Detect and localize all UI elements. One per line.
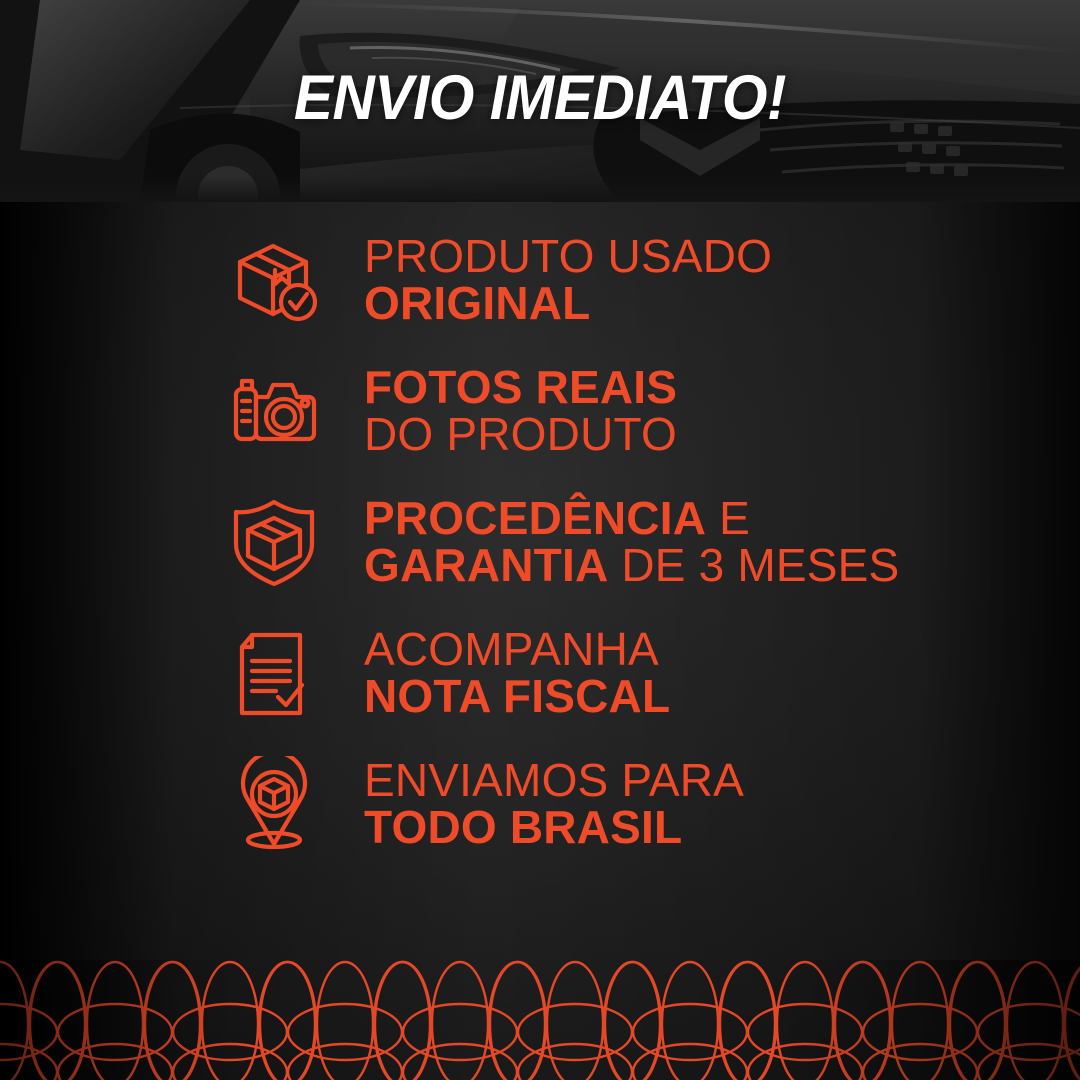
- feature-row-fotos-reais: FOTOS REAIS DO PRODUTO: [222, 345, 1080, 476]
- feature-line-2: TODO BRASIL: [364, 804, 744, 851]
- shield-box-icon: [222, 494, 326, 590]
- feature-line-2: ORIGINAL: [364, 280, 772, 327]
- page-title: ENVIO IMEDIATO!: [38, 62, 1042, 134]
- feature-list: PRODUTO USADO ORIGINAL FOTOS REAIS DO: [0, 214, 1080, 869]
- feature-text: ACOMPANHA NOTA FISCAL: [364, 626, 670, 720]
- feature-line-1: FOTOS REAIS: [364, 364, 677, 411]
- package-box-check-icon: [222, 232, 326, 328]
- feature-line-1: PRODUTO USADO: [364, 233, 772, 280]
- feature-row-produto-original: PRODUTO USADO ORIGINAL: [222, 214, 1080, 345]
- feature-text: ENVIAMOS PARA TODO BRASIL: [364, 757, 744, 851]
- feature-line-1: PROCEDÊNCIA E: [364, 495, 899, 542]
- feature-row-nota-fiscal: ACOMPANHA NOTA FISCAL: [222, 607, 1080, 738]
- hero-banner: ENVIO IMEDIATO!: [0, 0, 1080, 202]
- feature-row-procedencia-garantia: PROCEDÊNCIA E GARANTIA DE 3 MESES: [222, 476, 1080, 607]
- promo-banner: ENVIO IMEDIATO! PRODUTO USADO ORIGINAL: [0, 0, 1080, 1080]
- invoice-document-check-icon: [222, 625, 326, 721]
- feature-row-todo-brasil: ENVIAMOS PARA TODO BRASIL: [222, 738, 1080, 869]
- hero-bottom-fade: [0, 176, 1080, 202]
- feature-line-1: ACOMPANHA: [364, 626, 670, 673]
- camera-icon: [222, 363, 326, 459]
- feature-text: FOTOS REAIS DO PRODUTO: [364, 364, 677, 458]
- geometric-ellipse-lattice-border: [0, 960, 1080, 1080]
- feature-line-2-rest: DE 3 MESES: [608, 539, 899, 591]
- feature-text: PROCEDÊNCIA E GARANTIA DE 3 MESES: [364, 495, 899, 589]
- feature-line-2: NOTA FISCAL: [364, 673, 670, 720]
- feature-line-1: ENVIAMOS PARA: [364, 757, 744, 804]
- feature-line-1-rest: E: [706, 492, 750, 544]
- feature-line-2: GARANTIA DE 3 MESES: [364, 542, 899, 589]
- feature-line-2-emphasis: GARANTIA: [364, 539, 608, 591]
- feature-line-2: DO PRODUTO: [364, 411, 677, 458]
- map-pin-box-icon: [222, 756, 326, 852]
- feature-text: PRODUTO USADO ORIGINAL: [364, 233, 772, 327]
- feature-line-1-emphasis: PROCEDÊNCIA: [364, 492, 706, 544]
